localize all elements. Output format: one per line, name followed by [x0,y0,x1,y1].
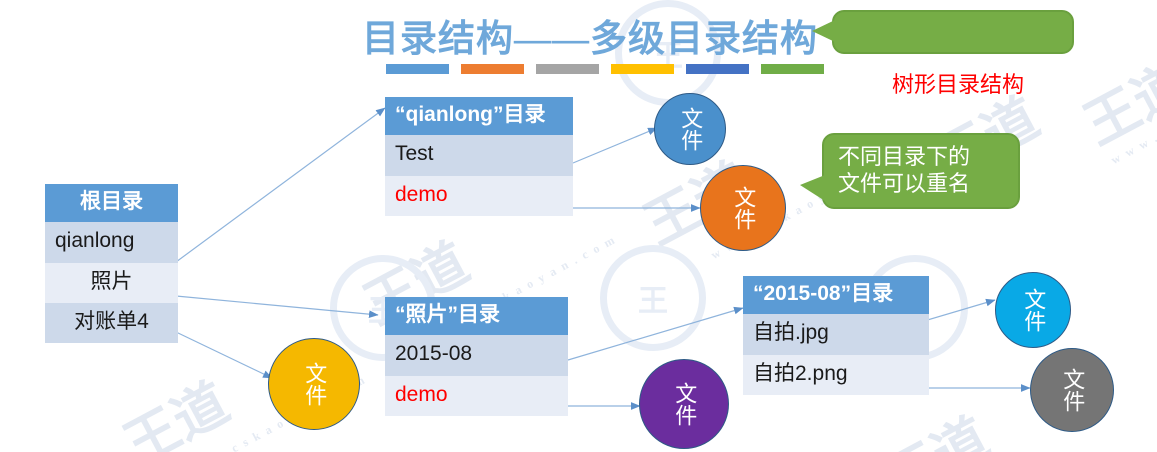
watermark-ring-text: 王 [638,276,668,320]
folder-row[interactable]: demo [385,176,573,216]
folder-row[interactable]: 照片 [45,263,178,303]
title-color-bars [386,64,824,74]
file-node-label: 文件 [303,362,325,406]
folder-header-root: 根目录 [45,184,178,222]
folder-row[interactable]: demo [385,376,568,416]
color-bar-1 [386,64,449,74]
file-node-yellow[interactable]: 文件 [268,338,360,430]
color-bar-2 [461,64,524,74]
watermark-ring: 王 [600,245,706,351]
file-node-label: 文件 [1061,368,1083,412]
folder-row[interactable]: 自拍2.png [743,355,929,395]
file-node-label: 文件 [679,107,701,151]
folder-table-qianlong: “qianlong”目录 Test demo [385,97,573,216]
folder-header-month: “2015-08”目录 [743,276,929,314]
wire-qianlong-test [573,128,657,163]
file-node-label: 文件 [732,186,754,230]
folder-row[interactable]: 自拍.jpg [743,314,929,354]
folder-header-qianlong: “qianlong”目录 [385,97,573,135]
color-bar-3 [536,64,599,74]
callout-duplicate-text: 不同目录下的 文件可以重名 [838,144,970,198]
callout-tree-highlight: 树形目录结构 [892,72,1024,97]
file-node-orange[interactable]: 文件 [700,165,786,251]
folder-table-month: “2015-08”目录 自拍.jpg 自拍2.png [743,276,929,395]
file-node-label: 文件 [673,382,695,426]
wire-root-bill [176,332,272,378]
file-node-cyan[interactable]: 文件 [995,272,1071,348]
callout-tail [812,20,835,42]
callout-tree-structure: 又称树形目录结构 [832,10,1074,54]
file-node-purple[interactable]: 文件 [639,359,729,449]
callout-tree-prefix: 又称 [848,72,892,97]
folder-table-root: 根目录 qianlong 照片 对账单4 [45,184,178,343]
wire-root-photos [176,296,378,315]
diagram-canvas: 王道 王道 王道 王道 王道 王道 w w w . c s k a o y a … [0,0,1157,452]
callout-duplicate-names: 不同目录下的 文件可以重名 [822,133,1020,209]
folder-row[interactable]: 2015-08 [385,335,568,375]
color-bar-6 [761,64,824,74]
wire-photos-month [568,308,743,360]
watermark-logo: 王道 [868,394,1000,452]
wire-root-qianlong [176,108,385,262]
color-bar-4 [611,64,674,74]
callout-tail [800,175,825,201]
folder-row[interactable]: Test [385,135,573,175]
file-node-blue[interactable]: 文件 [654,93,726,165]
color-bar-5 [686,64,749,74]
page-title: 目录结构——多级目录结构 [362,8,818,62]
folder-table-photos: “照片”目录 2015-08 demo [385,297,568,416]
watermark-url: w w w . c s k a o y a n . c o m [1109,57,1157,168]
file-node-gray[interactable]: 文件 [1030,348,1114,432]
folder-row[interactable]: 对账单4 [45,303,178,343]
watermark-logo: 王道 [108,359,240,452]
file-node-label: 文件 [1022,288,1044,332]
watermark-logo: 王道 [1068,39,1157,159]
folder-row[interactable]: qianlong [45,222,178,262]
folder-header-photos: “照片”目录 [385,297,568,335]
